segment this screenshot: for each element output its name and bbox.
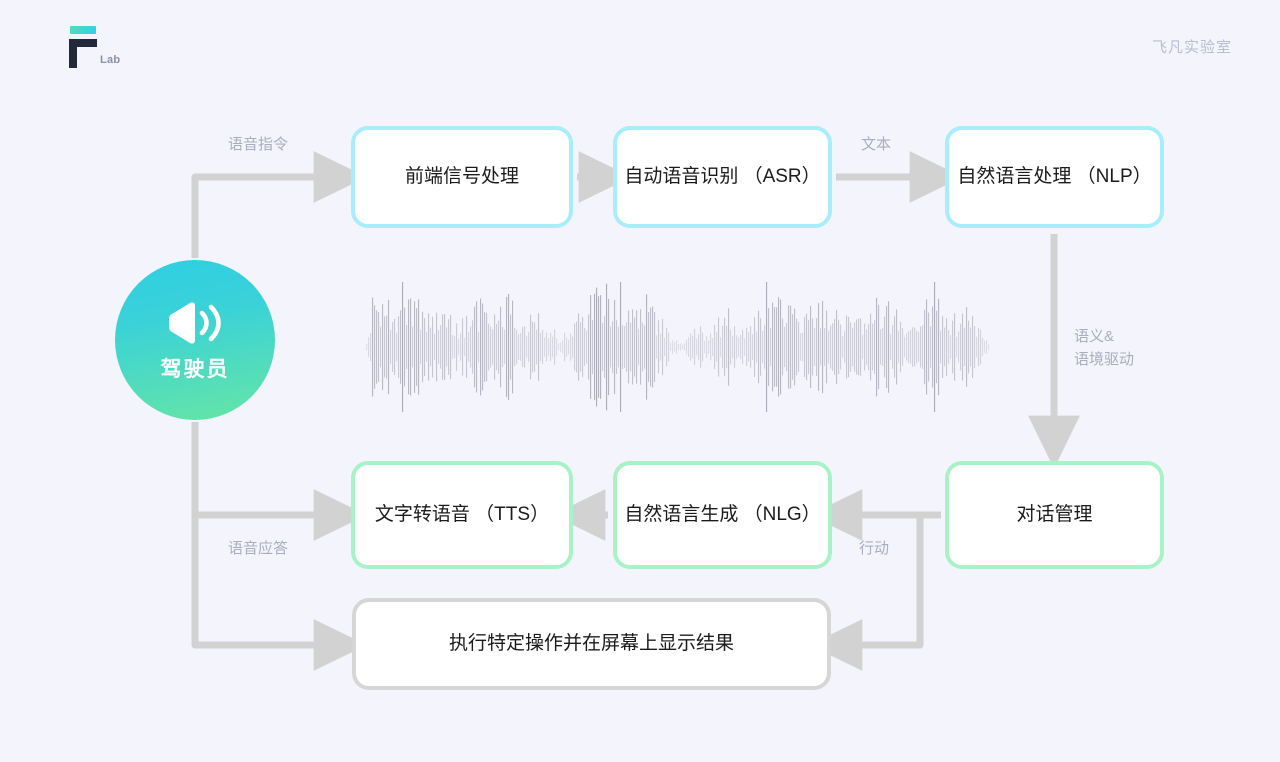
node-tts[interactable]: 文字转语音 （TTS）	[351, 461, 573, 569]
voice-speaker-icon	[164, 297, 226, 349]
driver-node[interactable]: 驾驶员	[115, 260, 275, 420]
node-execute-result[interactable]: 执行特定操作并在屏幕上显示结果	[352, 598, 831, 690]
edge-label-voice-command: 语音指令	[228, 134, 288, 157]
node-frontend-signal-processing[interactable]: 前端信号处理	[351, 126, 573, 228]
driver-label: 驾驶员	[161, 353, 230, 383]
edge-label-text: 文本	[861, 134, 891, 157]
edge-label-action: 行动	[859, 538, 889, 561]
logo-lab-text: Lab	[100, 54, 120, 66]
edge-label-voice-reply: 语音应答	[228, 538, 288, 561]
edge-label-semantic-context: 语义& 语境驱动	[1074, 326, 1134, 371]
node-asr[interactable]: 自动语音识别 （ASR）	[613, 126, 832, 228]
node-dialog-management[interactable]: 对话管理	[945, 461, 1164, 569]
logo-f-mark-icon	[69, 39, 97, 68]
audio-waveform-icon	[366, 282, 990, 412]
node-nlg[interactable]: 自然语言生成 （NLG）	[613, 461, 832, 569]
logo-gradient-bar-icon	[70, 26, 96, 34]
page-header: Lab 飞凡实验室	[0, 0, 1280, 90]
node-nlp[interactable]: 自然语言处理 （NLP）	[945, 126, 1164, 228]
flyfan-lab-logo-icon: Lab	[66, 26, 126, 68]
brand-name-right: 飞凡实验室	[1152, 36, 1232, 57]
